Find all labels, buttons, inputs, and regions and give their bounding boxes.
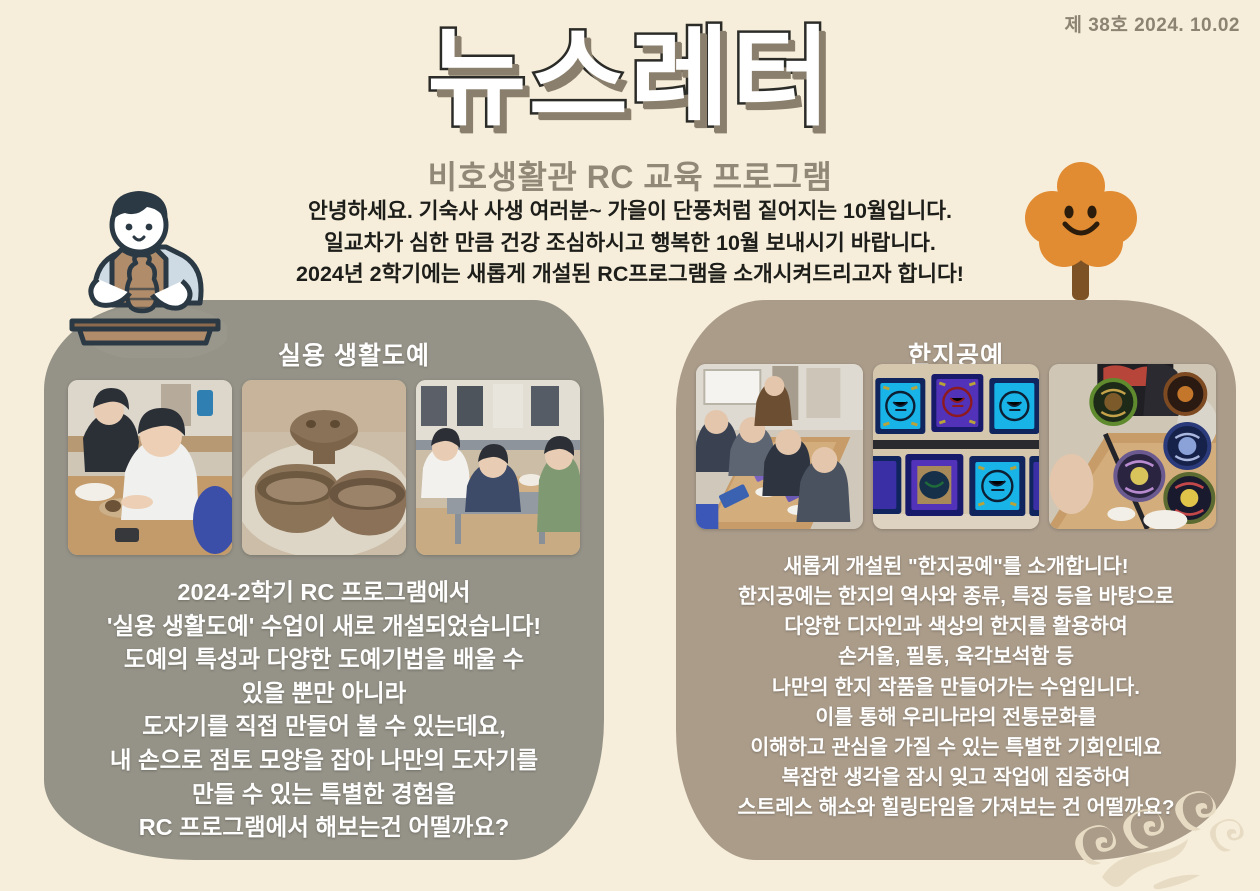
card-hanji-line-7: 이해하고 관심을 가질 수 있는 특별한 기회인데요: [686, 733, 1226, 763]
card-pottery: 실용 생활도예: [44, 300, 604, 860]
card-pottery-line-1: 2024-2학기 RC 프로그램에서: [58, 576, 590, 610]
card-pottery-line-5: 도자기를 직접 만들어 볼 수 있는데요,: [58, 710, 590, 744]
photo-hanji-class-long-table: [696, 364, 863, 529]
card-pottery-line-7: 만들 수 있는 특별한 경험을: [58, 778, 590, 812]
photo-blue-hanji-artworks: [873, 364, 1040, 529]
newsletter-page: 제 38호 2024. 10.02 뉴스레터 비호생활관 RC 교육 프로그램 …: [0, 0, 1260, 891]
card-hanji-line-4: 손거울, 필통, 육각보석함 등: [686, 642, 1226, 672]
main-title-text: 뉴스레터: [427, 18, 832, 139]
tree-icon: [1022, 160, 1140, 308]
card-pottery-line-2: '실용 생활도예' 수업이 새로 개설되었습니다!: [58, 610, 590, 644]
card-pottery-line-8: RC 프로그램에서 해보는건 어떨까요?: [58, 811, 590, 845]
card-hanji: 한지공예: [676, 300, 1236, 860]
card-hanji-line-3: 다양한 디자인과 색상의 한지를 활용하여: [686, 612, 1226, 642]
page-title: 뉴스레터: [0, 18, 1260, 139]
card-hanji-line-2: 한지공예는 한지의 역사와 종류, 특징 등을 바탕으로: [686, 582, 1226, 612]
card-hanji-photos: [696, 364, 1216, 529]
potter-icon: [62, 183, 227, 358]
photo-finished-clay-bowls: [242, 380, 406, 555]
card-hanji-body: 새롭게 개설된 "한지공예"를 소개합니다! 한지공예는 한지의 역사와 종류,…: [676, 552, 1236, 823]
photo-students-shaping-clay: [68, 380, 232, 555]
card-pottery-body: 2024-2학기 RC 프로그램에서 '실용 생활도예' 수업이 새로 개설되었…: [44, 576, 604, 845]
card-hanji-line-8: 복잡한 생각을 잠시 잊고 작업에 집중하여: [686, 763, 1226, 793]
card-hanji-line-6: 이를 통해 우리나라의 전통문화를: [686, 703, 1226, 733]
card-hanji-line-9: 스트레스 해소와 힐링타임을 가져보는 건 어떨까요?: [686, 793, 1226, 823]
photo-classroom-pottery-workshop: [416, 380, 580, 555]
card-pottery-line-3: 도예의 특성과 다양한 도예기법을 배울 수: [58, 643, 590, 677]
card-hanji-line-5: 나만의 한지 작품을 만들어가는 수업입니다.: [686, 673, 1226, 703]
photo-hanji-hand-fans: [1049, 364, 1216, 529]
card-pottery-line-6: 내 손으로 점토 모양을 잡아 나만의 도자기를: [58, 744, 590, 778]
card-pottery-line-4: 있을 뿐만 아니라: [58, 677, 590, 711]
card-hanji-line-1: 새롭게 개설된 "한지공예"를 소개합니다!: [686, 552, 1226, 582]
card-pottery-photos: [68, 380, 580, 555]
